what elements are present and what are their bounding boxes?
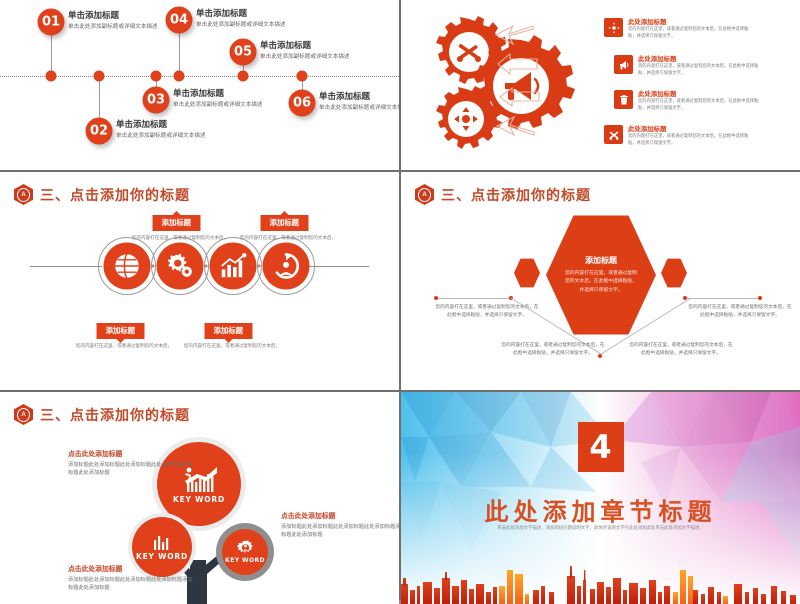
- hexagon-note-3: 您的内容打在这里，或者通过复制您的文本后，在此框中选择粘贴，并选择只保留文字。: [501, 342, 605, 359]
- circle-desc-3: 您的内容打在这里，或者通过复制您的文本后，: [177, 343, 287, 351]
- timeline-desc-04: 单击此处添加副标题或详细文本描述: [196, 21, 331, 29]
- circle-label-text-4: 添加标题: [261, 215, 309, 231]
- slide-section-cover[interactable]: 4 此处添加章节标题 单击此处添加文字描述，添加简短问题说明文字，具体的说明文字…: [401, 392, 800, 604]
- page-title: 三、点击添加你的标题: [40, 185, 190, 205]
- arrow-icon: [493, 22, 535, 48]
- megaphone-icon: [614, 55, 633, 74]
- tree-text-desc-1: 添加标题此处添加标题此处添加标题此处添加标题添加标题此处添加标题: [68, 461, 196, 478]
- timeline-axis: [0, 76, 399, 77]
- hexagon-badge-icon: A: [14, 404, 33, 425]
- timeline-stem: [51, 32, 52, 76]
- hexagon-small-right: [661, 258, 687, 288]
- timeline-title-02: 单击添加标题: [116, 120, 231, 131]
- connector-line-left: [30, 266, 102, 267]
- timeline-badge-01[interactable]: 01: [38, 9, 65, 36]
- slide-hexagons[interactable]: A 三、点击添加你的标题 添加标题 您的内容打在这里，或者通过复制您的文本后，在…: [401, 172, 800, 390]
- gear-row-1[interactable]: 此处添加标题 您的内容打在这里，或者通过复制您的文本后，在此框中选择粘贴，并选择…: [604, 18, 756, 40]
- gear-row-3[interactable]: 此处添加标题 您的内容打在这里，或者通过复制您的文本后，在此框中选择粘贴，并选择…: [614, 90, 766, 112]
- timeline-title-03: 单击添加标题: [173, 89, 288, 100]
- tree-text-title-1: 点击此处添加标题: [68, 450, 196, 459]
- timeline-text-02: 单击添加标题 单击此处添加副标题或详细文本描述: [116, 120, 231, 140]
- gear-row-2[interactable]: 此处添加标题 您的内容打在这里，或者通过复制您的文本后，在此框中选择粘贴，并选择…: [614, 55, 766, 77]
- gear-person-icon: [237, 540, 254, 557]
- tree-text-title-2: 点击此处添加标题: [281, 512, 399, 521]
- timeline-node[interactable]: [46, 71, 57, 82]
- circle-desc-2: 您的内容打在这里，或者通过复制您的文本后，: [125, 235, 235, 243]
- circle-label-text-2: 添加标题: [153, 215, 201, 231]
- globe-icon[interactable]: [104, 243, 151, 290]
- gear-row-text-3: 此处添加标题 您的内容打在这里，或者通过复制您的文本后，在此框中选择粘贴，并选择…: [638, 90, 766, 112]
- gear-row-title-3: 此处添加标题: [638, 90, 766, 98]
- circle-label-2[interactable]: 添加标题 您的内容打在这里，或者通过复制您的文本后，: [153, 212, 208, 242]
- page-title: 三、点击添加你的标题: [441, 185, 591, 205]
- target-icon: [604, 18, 623, 37]
- circle-label-1[interactable]: 添加标题 您的内容打在这里，或者通过复制您的文本后，: [97, 320, 152, 350]
- timeline-text-03: 单击添加标题 单击此处添加副标题或详细文本描述: [173, 89, 288, 109]
- hexagon-badge-icon: A: [415, 184, 434, 205]
- timeline-badge-03[interactable]: 03: [143, 87, 170, 114]
- circle-desc-1: 您的内容打在这里，或者通过复制您的文本后，: [69, 343, 179, 351]
- slide-header: A 三、点击添加你的标题: [415, 184, 591, 205]
- hexagon-note-2: 您的内容打在这里，或者通过复制您的文本后，在此框中选择粘贴，并选择只保留文字。: [688, 304, 792, 321]
- arrow-icon: [494, 113, 536, 139]
- slide-timeline[interactable]: 01 单击添加标题 单击此处添加副标题或详细文本描述 02 单击添加标题 单击此…: [0, 0, 399, 170]
- slide-tree[interactable]: A 三、点击添加你的标题 KEY WORD: [0, 392, 399, 604]
- tree-text-3: 点击此处添加标题 添加标题此处添加标题此处添加标题此处添加标题添加标题此处添加标…: [68, 565, 196, 592]
- chart-icon[interactable]: [210, 243, 257, 290]
- gear-row-desc-4: 您的内容打在这里，或者通过复制您的文本后，在此框中选择粘贴，并选择只保留文字。: [628, 134, 756, 147]
- timeline-node[interactable]: [174, 71, 185, 82]
- timeline-node[interactable]: [238, 71, 249, 82]
- timeline-stem: [179, 30, 180, 76]
- gear-row-title-1: 此处添加标题: [628, 18, 756, 26]
- leader-line: [436, 298, 511, 299]
- separator-dot: [205, 265, 208, 268]
- gear-row-text-4: 此处添加标题 您的内容打在这里，或者通过复制您的文本后，在此框中选择粘贴，并选择…: [628, 125, 756, 147]
- timeline-desc-03: 单击此处添加副标题或详细文本描述: [173, 101, 288, 109]
- circle-label-4[interactable]: 添加标题 您的内容打在这里，或者通过复制您的文本后，: [261, 212, 316, 242]
- recycle-icon[interactable]: [263, 243, 310, 290]
- tree-keyword-2: KEY WORD: [136, 552, 188, 561]
- slide-gears[interactable]: 此处添加标题 您的内容打在这里，或者通过复制您的文本后，在此框中选择粘贴，并选择…: [401, 0, 800, 170]
- timeline-badge-05[interactable]: 05: [230, 39, 257, 66]
- badge-letter: A: [17, 188, 30, 202]
- trash-icon: [614, 90, 633, 109]
- gear-row-title-4: 此处添加标题: [628, 125, 756, 133]
- timeline-node[interactable]: [94, 71, 105, 82]
- timeline-desc-06: 单击此处添加副标题或详细文本描述: [319, 104, 399, 112]
- gear-row-desc-3: 您的内容打在这里，或者通过复制您的文本后，在此框中选择粘贴，并选择只保留文字。: [638, 99, 766, 112]
- arrow-icon: [496, 52, 538, 76]
- skyline-graphic: [401, 556, 800, 604]
- hexagon-badge-icon: A: [14, 184, 33, 205]
- tree-text-title-3: 点击此处添加标题: [68, 565, 196, 574]
- timeline-desc-05: 单击此处添加副标题或详细文本描述: [260, 53, 375, 61]
- slide-grid: 01 单击添加标题 单击此处添加副标题或详细文本描述 02 单击添加标题 单击此…: [0, 0, 800, 600]
- tree-text-1: 点击此处添加标题 添加标题此处添加标题此处添加标题此处添加标题添加标题此处添加标…: [68, 450, 196, 477]
- section-number: 4: [578, 422, 624, 472]
- circle-label-text-1: 添加标题: [97, 323, 145, 339]
- timeline-text-05: 单击添加标题 单击此处添加副标题或详细文本描述: [260, 41, 375, 61]
- timeline-node[interactable]: [297, 71, 308, 82]
- gear-row-title-2: 此处添加标题: [638, 55, 766, 63]
- leader-dot: [434, 296, 438, 300]
- section-subtitle: 单击此处添加文字描述，添加简短问题说明文字，具体的说明文字在此处添加此处单击此处…: [486, 525, 716, 533]
- timeline-title-05: 单击添加标题: [260, 41, 375, 52]
- tree-keyword-3: KEY WORD: [225, 557, 265, 564]
- slide-header: A 三、点击添加你的标题: [14, 184, 190, 205]
- timeline-badge-02[interactable]: 02: [86, 118, 113, 145]
- gears-icon[interactable]: [157, 243, 204, 290]
- gear-row-4[interactable]: 此处添加标题 您的内容打在这里，或者通过复制您的文本后，在此框中选择粘贴，并选择…: [604, 125, 756, 147]
- timeline-title-04: 单击添加标题: [196, 9, 331, 20]
- gear-row-text-2: 此处添加标题 您的内容打在这里，或者通过复制您的文本后，在此框中选择粘贴，并选择…: [638, 55, 766, 77]
- tools-icon: [604, 125, 623, 144]
- circle-desc-4: 您的内容打在这里，或者通过复制您的文本后，: [233, 235, 343, 243]
- timeline-badge-06[interactable]: 06: [289, 90, 316, 117]
- slide-header: A 三、点击添加你的标题: [14, 404, 190, 425]
- timeline-title-06: 单击添加标题: [319, 92, 399, 103]
- hexagon-small-left: [514, 258, 540, 288]
- gear-row-desc-2: 您的内容打在这里，或者通过复制您的文本后，在此框中选择粘贴，并选择只保留文字。: [638, 64, 766, 77]
- gear-row-text-1: 此处添加标题 您的内容打在这里，或者通过复制您的文本后，在此框中选择粘贴，并选择…: [628, 18, 756, 40]
- leader-line: [685, 298, 760, 299]
- timeline-text-04: 单击添加标题 单击此处添加副标题或详细文本描述: [196, 9, 331, 29]
- hexagon-center-desc: 您的内容打在这里，或者通过复制您的文本后，在此框中选择粘贴，并选择只保留文字。: [564, 270, 638, 295]
- page-title: 三、点击添加你的标题: [40, 405, 190, 425]
- timeline-node[interactable]: [151, 71, 162, 82]
- tree-text-2: 点击此处添加标题 添加标题此处添加标题此处添加标题此处添加标题添加标题此处添加标…: [281, 512, 399, 539]
- hexagon-center-title: 添加标题: [585, 255, 617, 266]
- leader-dot: [758, 296, 762, 300]
- circle-label-text-3: 添加标题: [205, 323, 253, 339]
- tree-node-3[interactable]: KEY WORD: [222, 529, 268, 575]
- separator-dot: [258, 265, 261, 268]
- tree-keyword-1: KEY WORD: [173, 495, 225, 504]
- separator-dot: [152, 265, 155, 268]
- timeline-badge-04[interactable]: 04: [166, 7, 193, 34]
- slide-circles[interactable]: A 三、点击添加你的标题 添加标题 您的内容打在这里，或者通过复制您的文本后，: [0, 172, 399, 390]
- timeline-text-06: 单击添加标题 单击此处添加副标题或详细文本描述: [319, 92, 399, 112]
- badge-letter: A: [418, 188, 431, 202]
- tree-text-desc-3: 添加标题此处添加标题此处添加标题此处添加标题添加标题此处添加标题: [68, 576, 196, 593]
- section-title: 此处添加章节标题: [485, 492, 717, 527]
- arrow-icon: [498, 86, 540, 108]
- bar-chart-icon: [150, 534, 174, 552]
- hexagon-note-4: 您的内容打在这里，或者通过复制您的文本后，在此框中选择粘贴，并选择只保留文字。: [629, 342, 733, 359]
- tree-text-desc-2: 添加标题此处添加标题此处添加标题此处添加标题添加标题此处添加标题: [281, 523, 399, 540]
- badge-letter: A: [17, 408, 30, 422]
- circle-label-3[interactable]: 添加标题 您的内容打在这里，或者通过复制您的文本后，: [205, 320, 260, 350]
- gear-row-desc-1: 您的内容打在这里，或者通过复制您的文本后，在此框中选择粘贴，并选择只保留文字。: [628, 27, 756, 40]
- timeline-desc-02: 单击此处添加副标题或详细文本描述: [116, 132, 231, 140]
